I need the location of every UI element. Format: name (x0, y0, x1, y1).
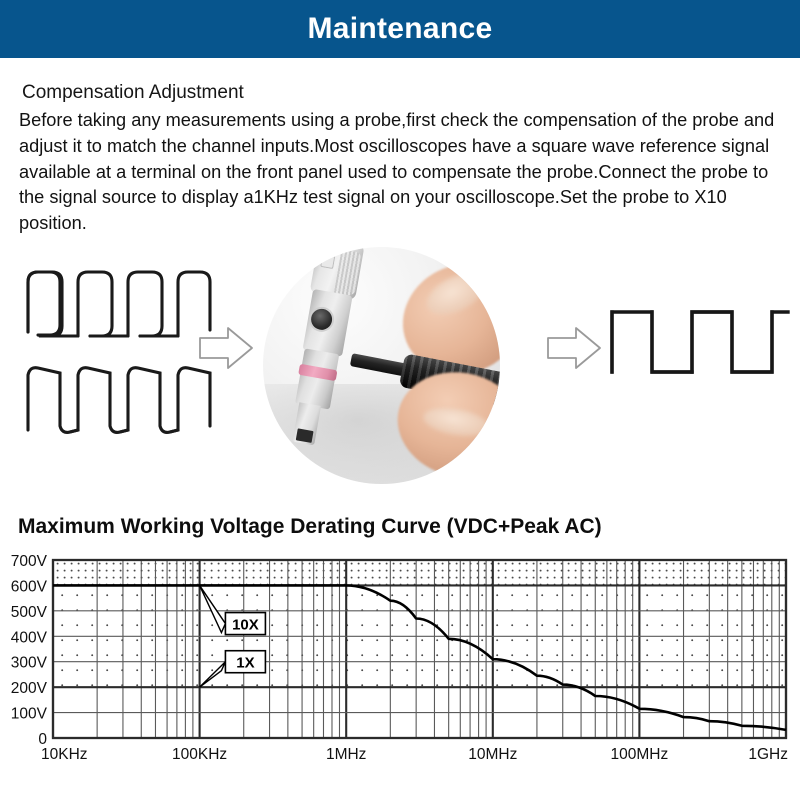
under-compensated-waveform (28, 368, 210, 433)
section-paragraph: Before taking any measurements using a p… (19, 108, 787, 237)
probe-tip-contact (296, 428, 314, 443)
section-heading: Compensation Adjustment (22, 82, 244, 104)
y-axis-tick-label: 400V (11, 629, 48, 646)
probe-adjustment-photo (263, 247, 500, 484)
y-axis-tick-label: 700V (11, 553, 48, 570)
arrow-right-icon (548, 328, 600, 368)
x-axis-tick-label: 100MHz (611, 746, 669, 763)
chart-title: Maximum Working Voltage Derating Curve (… (18, 515, 602, 539)
x-axis-tick-label: 10KHz (41, 746, 88, 763)
correctly-compensated-square-wave (612, 312, 788, 372)
page-title: Maintenance (307, 12, 492, 46)
x-axis-tick-label: 1GHz (748, 746, 788, 763)
x-axis-tick-label: 1MHz (326, 746, 366, 763)
y-axis-tick-label: 200V (11, 680, 48, 697)
callout-label: 1X (236, 655, 254, 672)
derating-curve-chart: 0100V200V300V400V500V600V700V10KHz100KHz… (0, 548, 800, 763)
arrow-right-icon (200, 328, 252, 368)
x-axis-tick-label: 10MHz (468, 746, 517, 763)
probe-marking (320, 254, 335, 269)
callout-label: 10X (232, 617, 259, 634)
over-compensated-waveform (28, 272, 210, 336)
y-axis-tick-label: 500V (11, 604, 48, 621)
y-axis-tick-label: 300V (11, 655, 48, 672)
y-axis-tick-label: 600V (11, 578, 48, 595)
y-axis-tick-label: 100V (11, 706, 48, 723)
x-axis-tick-label: 100KHz (172, 746, 227, 763)
page-header-banner: Maintenance (0, 0, 800, 58)
chart-shaded-band (53, 560, 786, 585)
